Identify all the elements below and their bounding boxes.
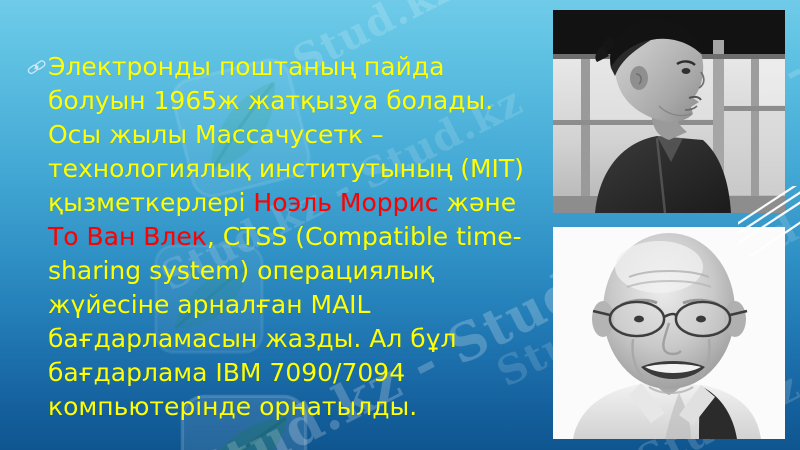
paragraph-runs: Электронды поштаның пайда болуын 1965ж ж… xyxy=(26,50,526,424)
text-run-highlight-name-1: Ноэль Моррис xyxy=(253,188,438,217)
slide-canvas: Stud.kz - Stud.kz Stud.kz - Stud.kz Stud… xyxy=(0,0,800,450)
text-run-highlight-name-2: То Ван Влек xyxy=(48,222,207,251)
text-run-3: , CTSS (Compatible time-sharing system) … xyxy=(48,222,522,421)
slide-body-text: Электронды поштаның пайда болуын 1965ж ж… xyxy=(26,50,526,424)
paperclip-icon xyxy=(26,54,48,76)
photo-elderly-man-glasses xyxy=(553,227,785,439)
text-run-2: және xyxy=(439,188,517,217)
photo-young-man-profile xyxy=(553,10,785,213)
